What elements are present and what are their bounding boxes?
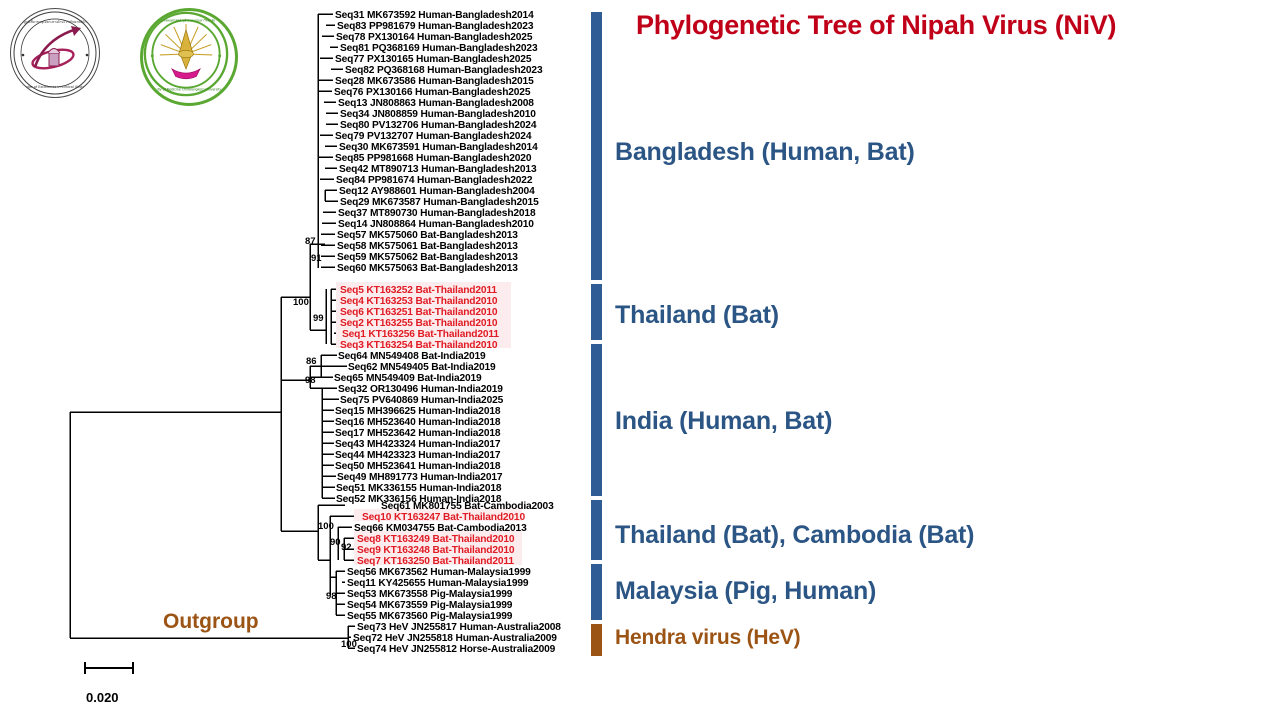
taxon-label: Seq8 KT163249 Bat-Thailand2010 bbox=[357, 534, 514, 545]
taxon-label: Seq9 KT163248 Bat-Thailand2010 bbox=[357, 545, 514, 556]
group-bar bbox=[591, 500, 602, 560]
taxon-label: Seq57 MK575060 Bat-Bangladesh2013 bbox=[337, 230, 518, 241]
group-label: Thailand (Bat) bbox=[615, 301, 779, 330]
group-label: Thailand (Bat), Cambodia (Bat) bbox=[615, 521, 974, 550]
figure-title: Phylogenetic Tree of Nipah Virus (NiV) bbox=[636, 10, 1276, 41]
taxon-label: Seq15 MH396625 Human-India2018 bbox=[335, 406, 500, 417]
group-bar bbox=[591, 564, 602, 620]
taxon-label: Seq76 PX130166 Human-Bangladesh2025 bbox=[334, 87, 530, 98]
taxon-label: Seq61 MK801755 Bat-Cambodia2003 bbox=[381, 501, 554, 512]
taxon-label: Seq84 PP981674 Human-Bangladesh2022 bbox=[336, 175, 532, 186]
taxon-label: Seq64 MN549408 Bat-India2019 bbox=[338, 351, 486, 362]
group-label: Hendra virus (HeV) bbox=[615, 626, 800, 650]
group-bar bbox=[591, 12, 602, 280]
taxon-label: Seq3 KT163254 Bat-Thailand2010 bbox=[340, 340, 497, 351]
taxon-label: Seq82 PQ368168 Human-Bangladesh2023 bbox=[345, 65, 542, 76]
taxon-label: Seq77 PX130165 Human-Bangladesh2025 bbox=[335, 54, 531, 65]
taxon-label: Seq34 JN808859 Human-Bangladesh2010 bbox=[340, 109, 536, 120]
taxon-label: Seq55 MK673560 Pig-Malaysia1999 bbox=[347, 611, 512, 622]
taxon-label: Seq49 MH891773 Human-India2017 bbox=[337, 472, 502, 483]
taxon-label: Seq81 PQ368169 Human-Bangladesh2023 bbox=[340, 43, 537, 54]
taxon-label: Seq60 MK575063 Bat-Bangladesh2013 bbox=[337, 263, 518, 274]
taxon-label: Seq12 AY988601 Human-Bangladesh2004 bbox=[339, 186, 535, 197]
taxon-label: Seq32 OR130496 Human-India2019 bbox=[338, 384, 503, 395]
group-label: Malaysia (Pig, Human) bbox=[615, 577, 876, 606]
taxon-label: Seq17 MH523642 Human-India2018 bbox=[335, 428, 500, 439]
taxon-label: Seq83 PP981679 Human-Bangladesh2023 bbox=[337, 21, 533, 32]
taxon-label: Seq6 KT163251 Bat-Thailand2010 bbox=[340, 307, 497, 318]
taxon-label: Seq44 MH423323 Human-India2017 bbox=[335, 450, 500, 461]
taxon-label: Seq73 HeV JN255817 Human-Australia2008 bbox=[357, 622, 561, 633]
taxon-label: Seq42 MT890713 Human-Bangladesh2013 bbox=[339, 164, 536, 175]
taxon-label: Seq30 MK673591 Human-Bangladesh2014 bbox=[339, 142, 538, 153]
taxon-label: Seq37 MT890730 Human-Bangladesh2018 bbox=[338, 208, 535, 219]
taxon-label: Seq10 KT163247 Bat-Thailand2010 bbox=[362, 512, 525, 523]
taxon-label: Seq56 MK673562 Human-Malaysia1999 bbox=[347, 567, 531, 578]
taxon-label: Seq54 MK673559 Pig-Malaysia1999 bbox=[347, 600, 512, 611]
taxon-label: Seq16 MH523640 Human-India2018 bbox=[335, 417, 500, 428]
taxon-label: Seq11 KY425655 Human-Malaysia1999 bbox=[347, 578, 528, 589]
outgroup-label: Outgroup bbox=[163, 610, 259, 634]
group-bar bbox=[591, 284, 602, 340]
phylogenetic-tree-figure: ศูนย์เชี่ยวชาญเฉพาะทางด้านไวรัสวิทยาคลิน… bbox=[0, 0, 1280, 720]
taxon-label: Seq29 MK673587 Human-Bangladesh2015 bbox=[340, 197, 539, 208]
taxon-labels: Seq31 MK673592 Human-Bangladesh2014Seq83… bbox=[0, 0, 600, 720]
taxon-label: Seq62 MN549405 Bat-India2019 bbox=[348, 362, 496, 373]
taxon-label: Seq74 HeV JN255812 Horse-Australia2009 bbox=[357, 644, 555, 655]
taxon-label: Seq5 KT163252 Bat-Thailand2011 bbox=[340, 285, 497, 296]
taxon-label: Seq79 PV132707 Human-Bangladesh2024 bbox=[335, 131, 531, 142]
group-label: Bangladesh (Human, Bat) bbox=[615, 138, 915, 167]
taxon-label: Seq28 MK673586 Human-Bangladesh2015 bbox=[335, 76, 534, 87]
scale-bar-value: 0.020 bbox=[86, 690, 119, 705]
group-bar bbox=[591, 624, 602, 656]
taxon-label: Seq50 MH523641 Human-India2018 bbox=[335, 461, 500, 472]
taxon-label: Seq51 MK336155 Human-India2018 bbox=[336, 483, 501, 494]
taxon-label: Seq59 MK575062 Bat-Bangladesh2013 bbox=[337, 252, 518, 263]
group-label: India (Human, Bat) bbox=[615, 407, 832, 436]
taxon-label: Seq85 PP981668 Human-Bangladesh2020 bbox=[335, 153, 531, 164]
taxon-label: Seq66 KM034755 Bat-Cambodia2013 bbox=[354, 523, 527, 534]
taxon-label: Seq65 MN549409 Bat-India2019 bbox=[334, 373, 482, 384]
taxon-label: Seq31 MK673592 Human-Bangladesh2014 bbox=[335, 10, 534, 21]
taxon-label: Seq75 PV640869 Human-India2025 bbox=[340, 395, 503, 406]
taxon-label: Seq58 MK575061 Bat-Bangladesh2013 bbox=[337, 241, 518, 252]
taxon-label: Seq78 PX130164 Human-Bangladesh2025 bbox=[336, 32, 532, 43]
taxon-label: Seq2 KT163255 Bat-Thailand2010 bbox=[340, 318, 497, 329]
taxon-label: Seq80 PV132706 Human-Bangladesh2024 bbox=[340, 120, 536, 131]
taxon-label: Seq14 JN808864 Human-Bangladesh2010 bbox=[338, 219, 534, 230]
taxon-label: Seq72 HeV JN255818 Human-Australia2009 bbox=[353, 633, 557, 644]
taxon-label: Seq7 KT163250 Bat-Thailand2011 bbox=[357, 556, 514, 567]
taxon-label: Seq43 MH423324 Human-India2017 bbox=[335, 439, 500, 450]
group-bar bbox=[591, 344, 602, 496]
taxon-label: Seq13 JN808863 Human-Bangladesh2008 bbox=[338, 98, 534, 109]
taxon-label: Seq1 KT163256 Bat-Thailand2011 bbox=[342, 329, 499, 340]
taxon-label: Seq4 KT163253 Bat-Thailand2010 bbox=[340, 296, 497, 307]
taxon-label: Seq53 MK673558 Pig-Malaysia1999 bbox=[347, 589, 512, 600]
